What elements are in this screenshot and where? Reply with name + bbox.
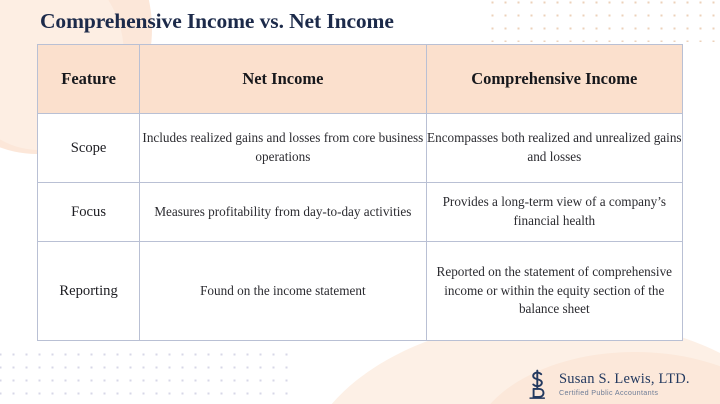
cell-comprehensive-income: Encompasses both realized and unrealized… <box>426 114 682 183</box>
slide-canvas: Comprehensive Income vs. Net Income Feat… <box>0 0 720 404</box>
sl-monogram-icon <box>524 369 550 399</box>
table-row: Focus Measures profitability from day-to… <box>38 183 683 242</box>
column-header-net-income: Net Income <box>140 45 426 114</box>
table-header-row: Feature Net Income Comprehensive Income <box>38 45 683 114</box>
cell-net-income: Measures profitability from day-to-day a… <box>140 183 426 242</box>
cell-net-income: Includes realized gains and losses from … <box>140 114 426 183</box>
cell-feature: Reporting <box>38 242 140 341</box>
cell-feature: Scope <box>38 114 140 183</box>
table-header: Feature Net Income Comprehensive Income <box>38 45 683 114</box>
cell-comprehensive-income: Provides a long-term view of a company’s… <box>426 183 682 242</box>
footer-logo: Susan S. Lewis, LTD. Certified Public Ac… <box>524 369 690 399</box>
table-body: Scope Includes realized gains and losses… <box>38 114 683 341</box>
table-row: Scope Includes realized gains and losses… <box>38 114 683 183</box>
cell-feature: Focus <box>38 183 140 242</box>
logo-text-block: Susan S. Lewis, LTD. Certified Public Ac… <box>559 372 690 397</box>
column-header-comprehensive-income: Comprehensive Income <box>426 45 682 114</box>
company-name: Susan S. Lewis, LTD. <box>559 372 690 387</box>
comparison-table: Feature Net Income Comprehensive Income … <box>37 44 683 341</box>
table-row: Reporting Found on the income statement … <box>38 242 683 341</box>
page-title: Comprehensive Income vs. Net Income <box>40 9 394 34</box>
cell-net-income: Found on the income statement <box>140 242 426 341</box>
company-tagline: Certified Public Accountants <box>559 389 690 396</box>
cell-comprehensive-income: Reported on the statement of comprehensi… <box>426 242 682 341</box>
column-header-feature: Feature <box>38 45 140 114</box>
